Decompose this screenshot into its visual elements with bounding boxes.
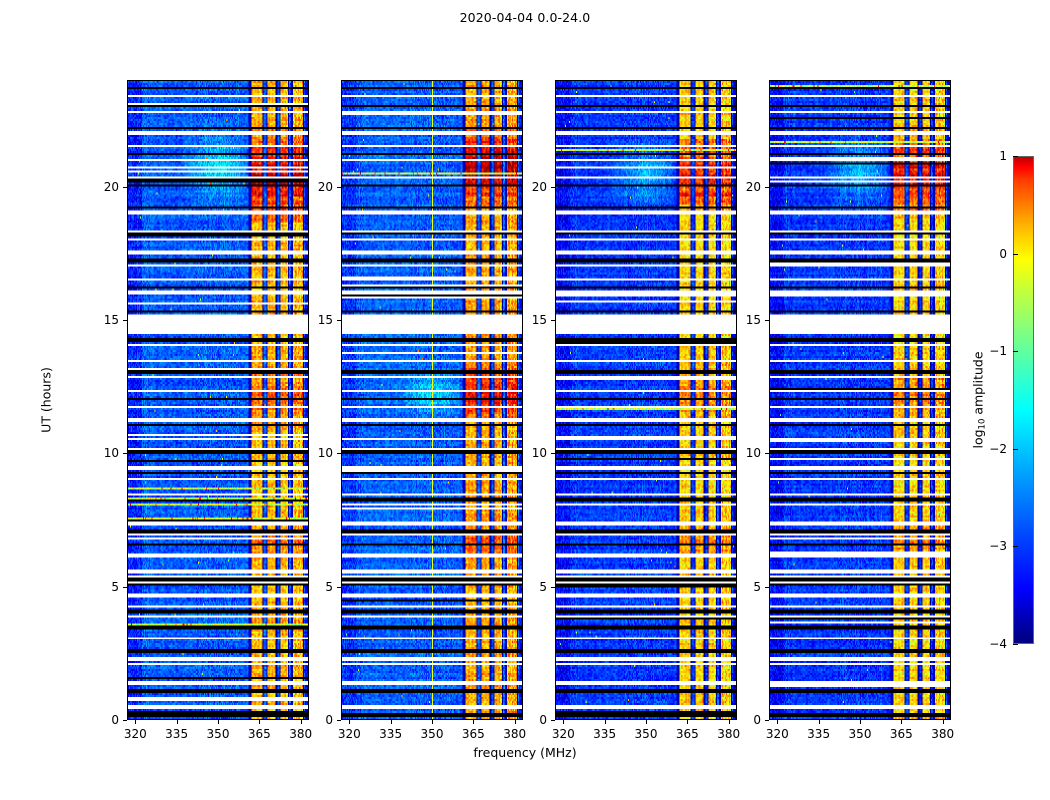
x-tick-label: 365 xyxy=(248,727,271,741)
y-tick-label: 20 xyxy=(307,180,333,194)
x-tickmark xyxy=(177,720,178,724)
colorbar-tickmark xyxy=(1013,254,1018,255)
y-tick-label: 0 xyxy=(735,713,761,727)
x-tick-label: 365 xyxy=(676,727,699,741)
colorbar-tickmark xyxy=(1013,156,1018,157)
y-tickmark xyxy=(123,587,127,588)
y-tick-label: 0 xyxy=(521,713,547,727)
y-tickmark xyxy=(337,187,341,188)
x-tickmark xyxy=(646,720,647,724)
y-tick-label: 0 xyxy=(93,713,119,727)
dynamic-spectrum-image-xy xyxy=(556,81,736,719)
x-axis-label: frequency (MHz) xyxy=(0,745,1050,760)
y-tick-label: 10 xyxy=(521,446,547,460)
y-tick-label: 10 xyxy=(93,446,119,460)
y-tickmark xyxy=(765,720,769,721)
x-tick-label: 335 xyxy=(807,727,830,741)
y-tickmark xyxy=(551,453,555,454)
x-tickmark xyxy=(349,720,350,724)
y-tick-label: 15 xyxy=(735,313,761,327)
colorbar-tick-label: −3 xyxy=(973,539,1007,553)
colorbar-tick-label: 1 xyxy=(973,149,1007,163)
x-tickmark xyxy=(391,720,392,724)
x-tick-label: 380 xyxy=(503,727,526,741)
x-tickmark xyxy=(432,720,433,724)
y-tick-label: 15 xyxy=(93,313,119,327)
x-tick-label: 320 xyxy=(766,727,789,741)
x-tick-label: 380 xyxy=(717,727,740,741)
x-tickmark xyxy=(860,720,861,724)
y-tick-label: 0 xyxy=(307,713,333,727)
y-tick-label: 15 xyxy=(521,313,547,327)
x-tickmark xyxy=(901,720,902,724)
x-tickmark xyxy=(218,720,219,724)
waterfall-panel-xy: XY, V1*V6=EA02*EA08 xyxy=(555,80,737,720)
waterfall-panel-yy: YY, V1*V6=EA02*EA08 xyxy=(341,80,523,720)
y-tickmark xyxy=(123,187,127,188)
x-tick-label: 335 xyxy=(379,727,402,741)
colorbar-tickmark xyxy=(1013,351,1018,352)
x-tick-label: 350 xyxy=(207,727,230,741)
x-tickmark xyxy=(135,720,136,724)
x-tickmark xyxy=(819,720,820,724)
colorbar-label: log10 amplitude xyxy=(971,351,986,448)
x-tickmark xyxy=(605,720,606,724)
x-tickmark xyxy=(301,720,302,724)
colorbar xyxy=(1013,156,1034,644)
y-tick-label: 20 xyxy=(735,180,761,194)
y-tickmark xyxy=(123,453,127,454)
x-tick-label: 350 xyxy=(849,727,872,741)
x-tick-label: 335 xyxy=(165,727,188,741)
y-tickmark xyxy=(551,587,555,588)
y-tickmark xyxy=(765,320,769,321)
y-tick-label: 5 xyxy=(735,580,761,594)
y-tickmark xyxy=(765,587,769,588)
y-tickmark xyxy=(123,320,127,321)
y-tick-label: 10 xyxy=(735,446,761,460)
y-tick-label: 20 xyxy=(93,180,119,194)
dynamic-spectrum-image-xx xyxy=(128,81,308,719)
x-tick-label: 335 xyxy=(593,727,616,741)
dynamic-spectrum-image-yx xyxy=(770,81,950,719)
x-tickmark xyxy=(943,720,944,724)
colorbar-tickmark xyxy=(1013,644,1018,645)
figure-canvas: 2020-04-04 0.0-24.0 XX, V1*V6=EA02*EA08Y… xyxy=(0,0,1050,800)
y-tickmark xyxy=(765,453,769,454)
waterfall-panel-yx: YX, V1*V6=EA02*EA08 xyxy=(769,80,951,720)
y-tick-label: 10 xyxy=(307,446,333,460)
y-tickmark xyxy=(551,720,555,721)
x-tick-label: 365 xyxy=(462,727,485,741)
y-tickmark xyxy=(337,453,341,454)
y-tickmark xyxy=(765,187,769,188)
y-tick-label: 5 xyxy=(93,580,119,594)
x-tick-label: 380 xyxy=(931,727,954,741)
y-tickmark xyxy=(551,187,555,188)
x-tickmark xyxy=(473,720,474,724)
y-tick-label: 5 xyxy=(307,580,333,594)
y-tick-label: 15 xyxy=(307,313,333,327)
colorbar-label-main: log xyxy=(971,429,986,448)
x-tickmark xyxy=(515,720,516,724)
colorbar-label-subscript: 10 xyxy=(978,419,988,430)
y-tickmark xyxy=(337,587,341,588)
x-tick-label: 320 xyxy=(338,727,361,741)
x-tick-label: 320 xyxy=(124,727,147,741)
colorbar-tickmark xyxy=(1013,546,1018,547)
x-tickmark xyxy=(729,720,730,724)
x-tick-label: 320 xyxy=(552,727,575,741)
x-tickmark xyxy=(777,720,778,724)
colorbar-tick-label: 0 xyxy=(973,247,1007,261)
figure-title: 2020-04-04 0.0-24.0 xyxy=(0,10,1050,25)
y-tick-label: 20 xyxy=(521,180,547,194)
colorbar-label-tail: amplitude xyxy=(971,351,986,418)
waterfall-panel-xx: XX, V1*V6=EA02*EA08 xyxy=(127,80,309,720)
colorbar-tickmark xyxy=(1013,449,1018,450)
y-tickmark xyxy=(551,320,555,321)
y-tickmark xyxy=(337,320,341,321)
y-tick-label: 5 xyxy=(521,580,547,594)
y-tickmark xyxy=(123,720,127,721)
y-tickmark xyxy=(337,720,341,721)
x-tickmark xyxy=(687,720,688,724)
x-tick-label: 365 xyxy=(890,727,913,741)
x-tickmark xyxy=(259,720,260,724)
x-tick-label: 350 xyxy=(421,727,444,741)
x-tick-label: 380 xyxy=(289,727,312,741)
y-axis-label: UT (hours) xyxy=(39,367,54,433)
x-tickmark xyxy=(563,720,564,724)
x-tick-label: 350 xyxy=(635,727,658,741)
dynamic-spectrum-image-yy xyxy=(342,81,522,719)
colorbar-tick-label: −4 xyxy=(973,637,1007,651)
